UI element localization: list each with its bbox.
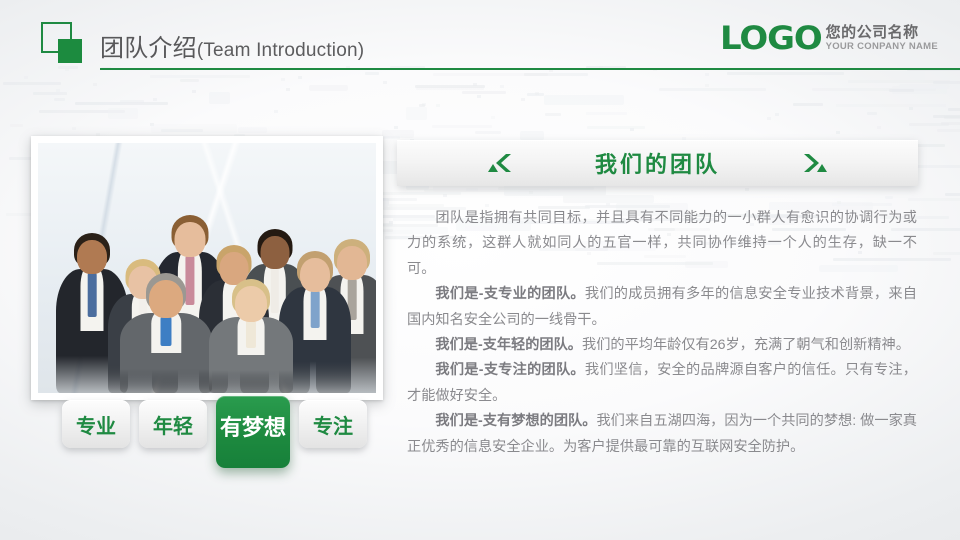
photo-person-head (235, 286, 267, 322)
photo-person-head (77, 240, 107, 274)
tag-chip[interactable]: 专业 (62, 400, 130, 448)
brand-block: LOGO 您的公司名称 YOUR CONPANY NAME (720, 22, 938, 54)
slide-root: 团队介绍(Team Introduction) LOGO 您的公司名称 YOUR… (0, 0, 960, 540)
brand-name-cn: 您的公司名称 (826, 24, 938, 41)
photo-person-head (300, 258, 330, 292)
body-paragraph-lead: 我们是-支专业的团队。 (435, 286, 585, 302)
body-paragraph: 我们是-支有梦想的团队。我们来自五湖四海，因为一个共同的梦想: 做一家真正优秀的… (407, 409, 917, 460)
page-title: 团队介绍(Team Introduction) (100, 28, 364, 63)
body-paragraph: 我们是-支专注的团队。我们坚信，安全的品牌源自客户的信任。只有专注，才能做好安全… (407, 358, 917, 409)
body-paragraph-lead: 我们是-支有梦想的团队。 (435, 413, 596, 429)
body-copy: 团队是指拥有共同目标，并且具有不同能力的一小群人有愈识的协调行为或力的系统，这群… (407, 206, 917, 460)
body-paragraph: 我们是-支年轻的团队。我们的平均年龄仅有26岁，充满了朝气和创新精神。 (407, 333, 917, 358)
photo-person-accent (311, 291, 320, 328)
logo-square-filled (58, 39, 82, 63)
photo-person-accent (246, 321, 256, 348)
green-squares-logo-icon (41, 22, 85, 66)
section-banner: 我们的团队 (397, 140, 918, 186)
body-paragraph: 团队是指拥有共同目标，并且具有不同能力的一小群人有愈识的协调行为或力的系统，这群… (407, 206, 917, 282)
photo-person (209, 281, 293, 393)
tag-chip-label: 年轻 (153, 410, 193, 439)
tag-chip[interactable]: 有梦想 (216, 396, 290, 468)
page-title-en: (Team Introduction) (197, 40, 364, 61)
double-chevron-left-icon (485, 152, 515, 174)
team-photo (38, 143, 376, 393)
double-chevron-right-icon (800, 152, 830, 174)
photo-person-accent (88, 273, 97, 317)
slide-header: 团队介绍(Team Introduction) LOGO 您的公司名称 YOUR… (0, 0, 960, 84)
banner-title: 我们的团队 (595, 147, 720, 179)
title-divider-rule (100, 68, 960, 70)
tag-chip-label: 专注 (313, 410, 353, 439)
photo-person (120, 275, 212, 393)
tag-chip[interactable]: 专注 (299, 400, 367, 448)
tag-chip-label: 有梦想 (220, 410, 286, 442)
brand-name-group: 您的公司名称 YOUR CONPANY NAME (826, 22, 938, 53)
tag-chip[interactable]: 年轻 (139, 400, 207, 448)
body-paragraph: 我们是-支专业的团队。我们的成员拥有多年的信息安全专业技术背景，来自国内知名安全… (407, 282, 917, 333)
team-photo-card (31, 136, 383, 400)
tag-chip-label: 专业 (76, 410, 116, 439)
photo-person-head (149, 280, 183, 318)
body-paragraph-lead: 我们是-支年轻的团队。 (435, 337, 582, 353)
brand-name-en: YOUR CONPANY NAME (826, 41, 938, 52)
body-paragraph-lead: 我们是-支专注的团队。 (435, 362, 585, 378)
photo-person-accent (161, 317, 172, 346)
page-title-cn: 团队介绍 (100, 35, 197, 62)
brand-logo-text: LOGO (720, 22, 822, 54)
